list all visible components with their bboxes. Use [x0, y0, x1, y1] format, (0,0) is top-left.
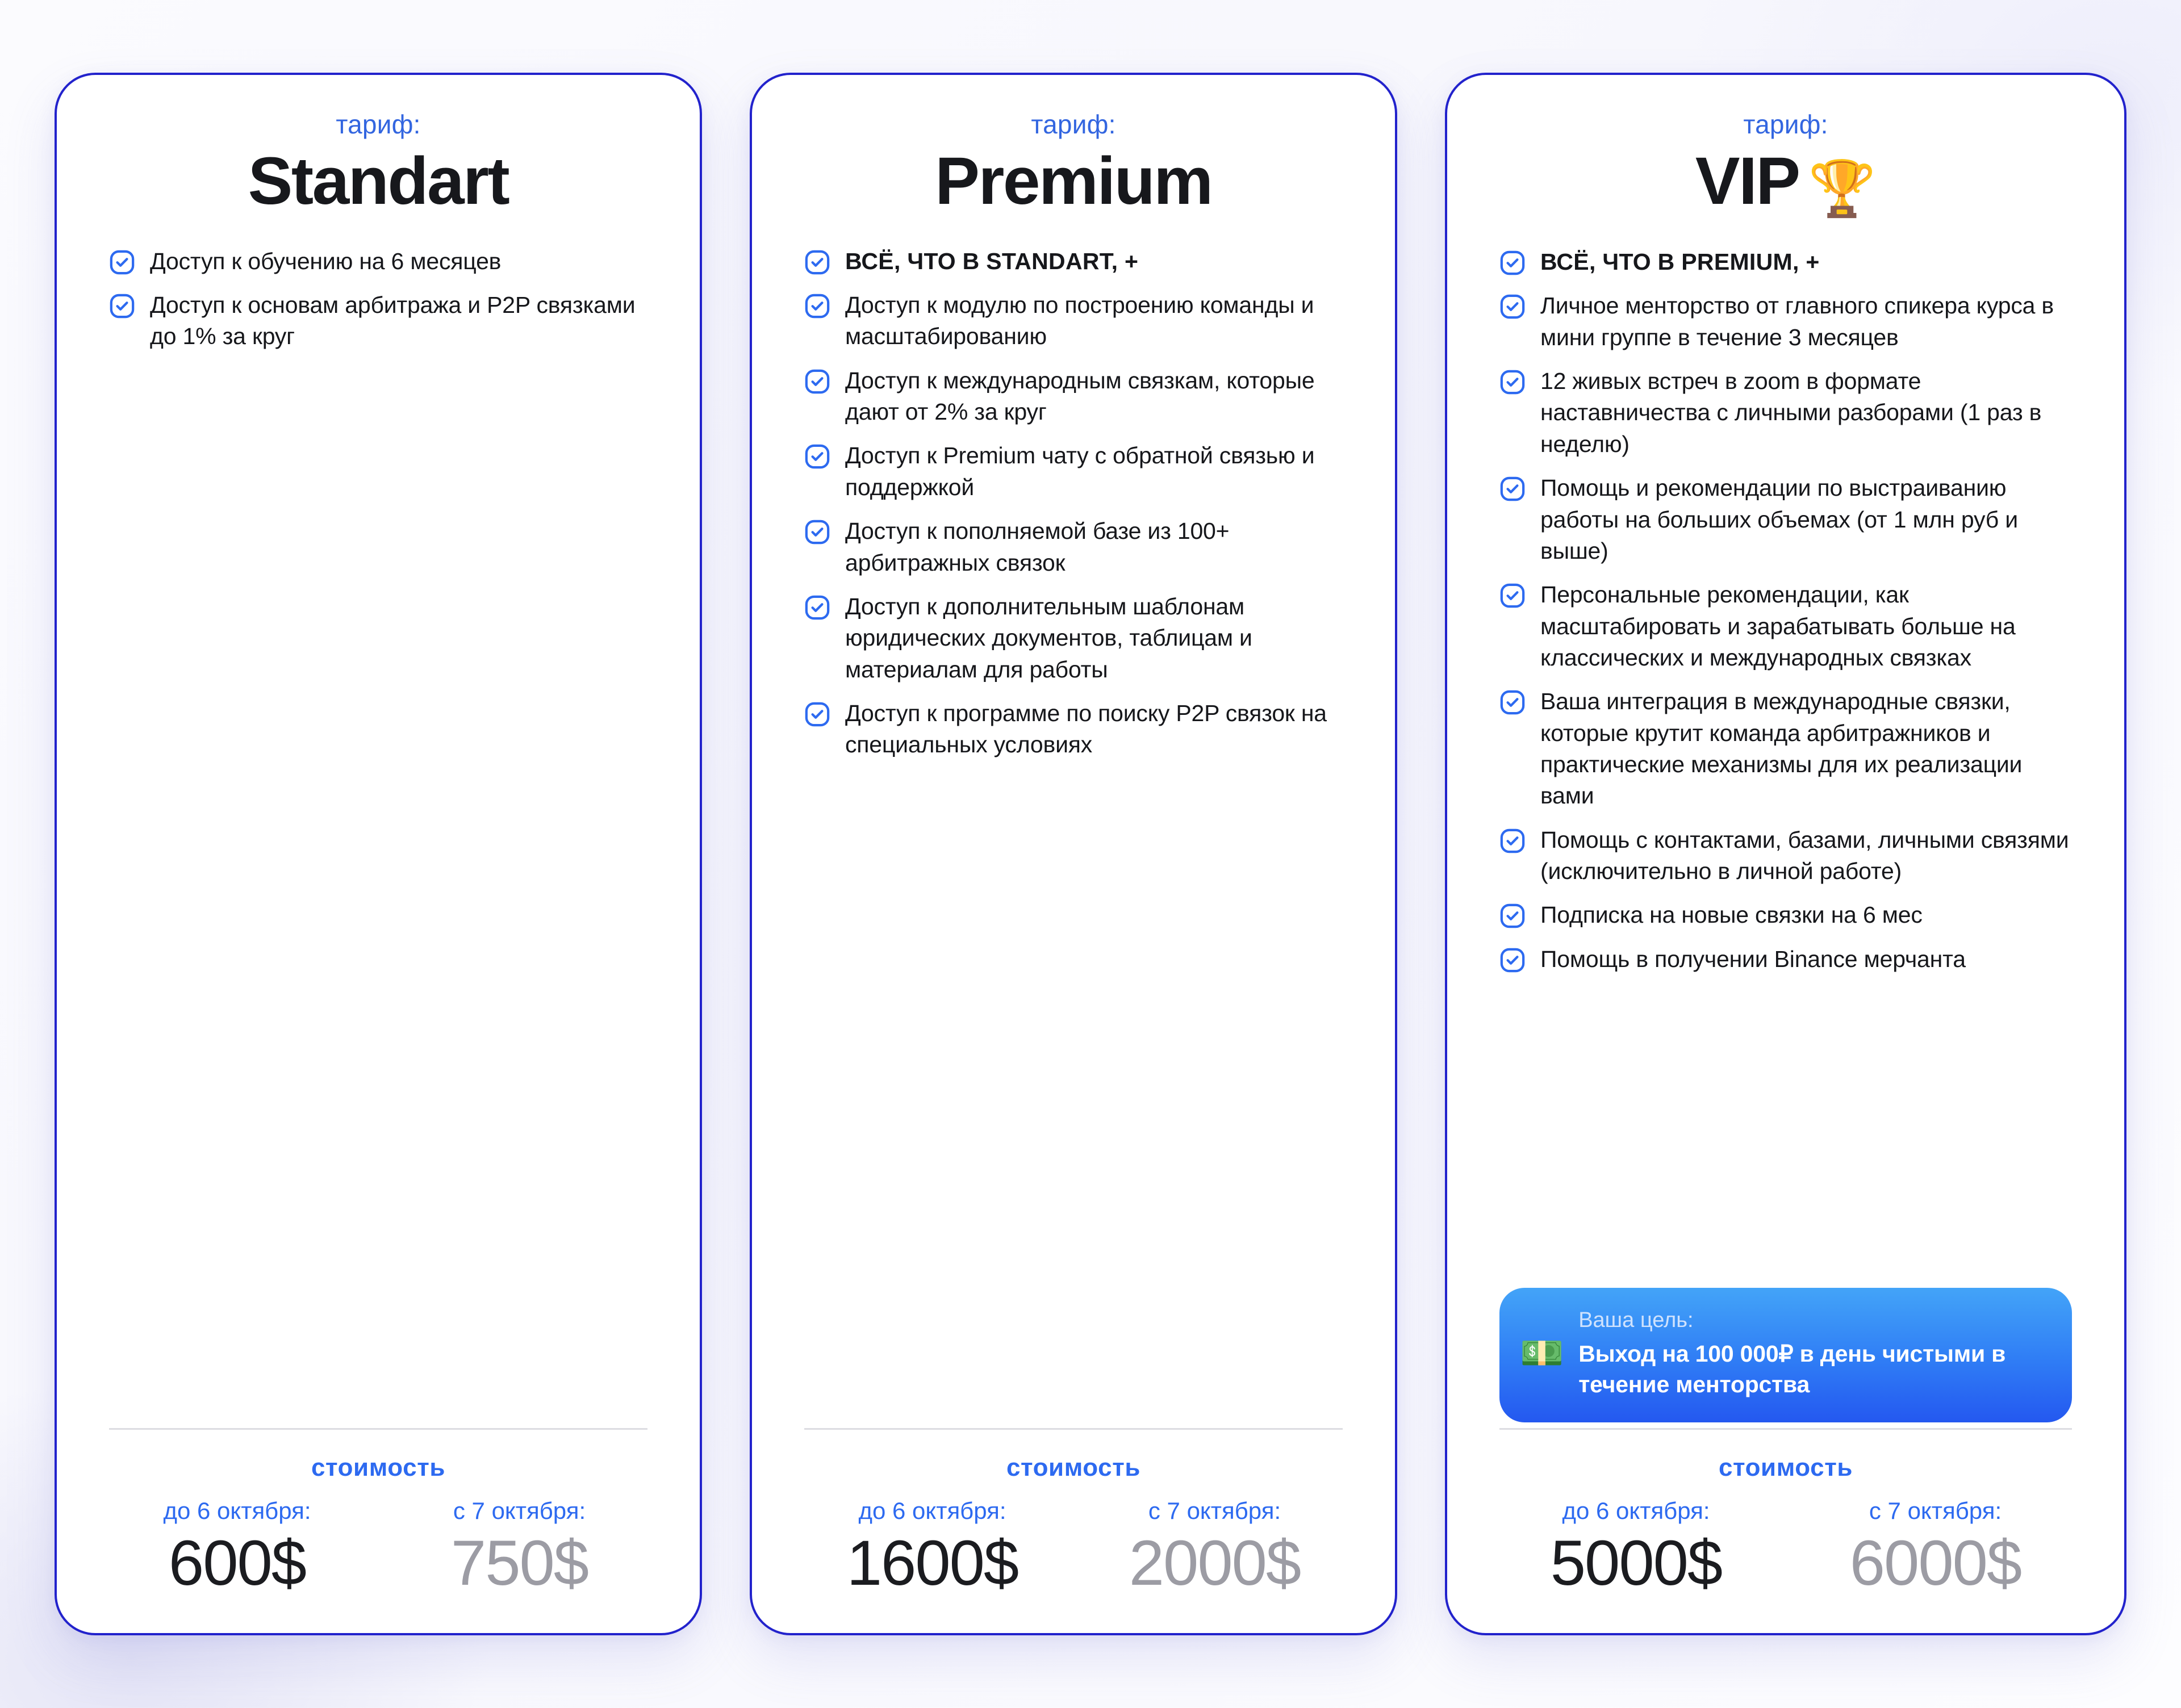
price-columns: до 6 октября: 5000$ с 7 октября: 6000$ [1499, 1497, 2072, 1598]
tier-label: тариф: [109, 110, 647, 139]
feature-text: Доступ к основам арбитража и P2P связкам… [150, 290, 647, 353]
feature-text: Помощь с контактами, базами, личными свя… [1540, 824, 2072, 888]
feature-list-premium: ВСЁ, ЧТО В STANDART, + Доступ к модулю п… [804, 219, 1343, 1429]
price-column-late: с 7 октября: 2000$ [1087, 1497, 1343, 1598]
price-columns: до 6 октября: 600$ с 7 октября: 750$ [109, 1497, 647, 1598]
price-value-late: 750$ [391, 1528, 647, 1598]
price-footer-vip: стоимость до 6 октября: 5000$ с 7 октябр… [1499, 1428, 2072, 1633]
check-circle-icon [1499, 947, 1526, 973]
feature-item: Помощь в получении Binance мерчанта [1499, 944, 2072, 975]
check-circle-icon [1499, 294, 1526, 320]
feature-item: Доступ к Premium чату с обратной связью … [804, 440, 1343, 503]
feature-text: Персональные рекомендации, как масштабир… [1540, 579, 2072, 673]
feature-item: Помощь с контактами, базами, личными свя… [1499, 824, 2072, 888]
price-caption: стоимость [109, 1454, 647, 1482]
feature-item: Помощь и рекомендации по выстраиванию ра… [1499, 472, 2072, 567]
feature-text: Доступ к Premium чату с обратной связью … [845, 440, 1343, 503]
money-icon: 💵 [1520, 1336, 1564, 1371]
feature-item: Персональные рекомендации, как масштабир… [1499, 579, 2072, 673]
feature-text: Помощь и рекомендации по выстраиванию ра… [1540, 472, 2072, 567]
feature-text: Помощь в получении Binance мерчанта [1540, 944, 1966, 975]
check-circle-icon [109, 249, 135, 275]
price-column-late: с 7 октября: 750$ [391, 1497, 647, 1598]
price-footer-premium: стоимость до 6 октября: 1600$ с 7 октябр… [804, 1428, 1343, 1633]
check-circle-icon [1499, 250, 1526, 276]
feature-text: 12 живых встреч в zoom в формате наставн… [1540, 366, 2072, 460]
feature-item: Доступ к дополнительным шаблонам юридиче… [804, 591, 1343, 685]
price-caption: стоимость [804, 1454, 1343, 1482]
tier-label: тариф: [1499, 110, 2072, 139]
price-value-late: 6000$ [1799, 1528, 2072, 1598]
pricing-card-premium[interactable]: тариф: Premium ВСЁ, ЧТО В STANDART, + До… [750, 73, 1397, 1635]
tier-name: Standart [109, 144, 647, 219]
check-circle-icon [1499, 583, 1526, 609]
tier-name: VIP🏆 [1499, 144, 2072, 220]
price-date-late: с 7 октября: [1799, 1497, 2072, 1525]
price-value-late: 2000$ [1087, 1528, 1343, 1598]
price-column-early: до 6 октября: 5000$ [1499, 1497, 1773, 1598]
check-circle-icon [1499, 689, 1526, 715]
feature-item: Доступ к основам арбитража и P2P связкам… [109, 290, 647, 353]
price-date-early: до 6 октября: [1499, 1497, 1773, 1525]
tier-name-text: VIP [1695, 144, 1799, 219]
check-circle-icon [804, 369, 830, 395]
check-circle-icon [804, 249, 830, 275]
feature-item: Подписка на новые связки на 6 мес [1499, 899, 2072, 931]
tier-name-text: Premium [935, 144, 1211, 219]
card-header-standart: тариф: Standart [109, 75, 647, 219]
feature-item: Личное менторство от главного спикера ку… [1499, 290, 2072, 353]
trophy-icon: 🏆 [1808, 158, 1877, 219]
feature-item: ВСЁ, ЧТО В STANDART, + [804, 246, 1343, 277]
feature-text: Доступ к дополнительным шаблонам юридиче… [845, 591, 1343, 685]
price-value-early: 600$ [109, 1528, 365, 1598]
goal-text: Выход на 100 000₽ в день чистыми в течен… [1578, 1338, 2047, 1400]
card-header-vip: тариф: VIP🏆 [1499, 75, 2072, 219]
feature-text: Доступ к обучению на 6 месяцев [150, 246, 501, 277]
feature-list-vip: ВСЁ, ЧТО В PREMIUM, + Личное менторство … [1499, 219, 2072, 1269]
price-columns: до 6 октября: 1600$ с 7 октября: 2000$ [804, 1497, 1343, 1598]
feature-item: Ваша интеграция в международные связки, … [1499, 686, 2072, 811]
feature-text: Доступ к программе по поиску P2P связок … [845, 698, 1343, 761]
price-column-early: до 6 октября: 1600$ [804, 1497, 1060, 1598]
price-date-late: с 7 октября: [1087, 1497, 1343, 1525]
feature-text: ВСЁ, ЧТО В PREMIUM, + [1540, 246, 1820, 278]
check-circle-icon [1499, 903, 1526, 929]
feature-item: Доступ к пополняемой базе из 100+ арбитр… [804, 516, 1343, 579]
check-circle-icon [1499, 369, 1526, 395]
feature-item: 12 живых встреч в zoom в формате наставн… [1499, 366, 2072, 460]
goal-callout: 💵 Ваша цель: Выход на 100 000₽ в день чи… [1499, 1288, 2072, 1423]
feature-item: Доступ к модулю по построению команды и … [804, 290, 1343, 353]
tier-name: Premium [804, 144, 1343, 219]
price-caption: стоимость [1499, 1454, 2072, 1482]
check-circle-icon [1499, 476, 1526, 502]
price-value-early: 1600$ [804, 1528, 1060, 1598]
pricing-card-vip[interactable]: тариф: VIP🏆 ВСЁ, ЧТО В PREMIUM, + Личное… [1445, 73, 2126, 1635]
feature-item: Доступ к обучению на 6 месяцев [109, 246, 647, 277]
price-footer-standart: стоимость до 6 октября: 600$ с 7 октября… [109, 1428, 647, 1633]
check-circle-icon [804, 519, 830, 545]
price-value-early: 5000$ [1499, 1528, 1773, 1598]
feature-text: Доступ к пополняемой базе из 100+ арбитр… [845, 516, 1343, 579]
price-date-late: с 7 октября: [391, 1497, 647, 1525]
feature-text: Доступ к международным связкам, которые … [845, 365, 1343, 428]
check-circle-icon [804, 595, 830, 621]
feature-text: ВСЁ, ЧТО В STANDART, + [845, 246, 1138, 277]
feature-list-standart: Доступ к обучению на 6 месяцев Доступ к … [109, 219, 647, 1429]
check-circle-icon [109, 293, 135, 319]
goal-body: Ваша цель: Выход на 100 000₽ в день чист… [1578, 1307, 2047, 1400]
feature-text: Личное менторство от главного спикера ку… [1540, 290, 2072, 353]
feature-text: Доступ к модулю по построению команды и … [845, 290, 1343, 353]
check-circle-icon [1499, 828, 1526, 854]
pricing-card-standart[interactable]: тариф: Standart Доступ к обучению на 6 м… [55, 73, 702, 1635]
goal-title: Ваша цель: [1578, 1307, 2047, 1334]
check-circle-icon [804, 293, 830, 319]
card-header-premium: тариф: Premium [804, 75, 1343, 219]
check-circle-icon [804, 443, 830, 470]
feature-text: Подписка на новые связки на 6 мес [1540, 899, 1923, 931]
feature-text: Ваша интеграция в международные связки, … [1540, 686, 2072, 811]
feature-item: ВСЁ, ЧТО В PREMIUM, + [1499, 246, 2072, 278]
check-circle-icon [804, 701, 830, 727]
pricing-board: тариф: Standart Доступ к обучению на 6 м… [0, 0, 2181, 1708]
feature-item: Доступ к международным связкам, которые … [804, 365, 1343, 428]
tier-label: тариф: [804, 110, 1343, 139]
feature-item: Доступ к программе по поиску P2P связок … [804, 698, 1343, 761]
tier-name-text: Standart [248, 144, 509, 219]
price-date-early: до 6 октября: [804, 1497, 1060, 1525]
price-column-early: до 6 октября: 600$ [109, 1497, 365, 1598]
price-date-early: до 6 октября: [109, 1497, 365, 1525]
price-column-late: с 7 октября: 6000$ [1799, 1497, 2072, 1598]
